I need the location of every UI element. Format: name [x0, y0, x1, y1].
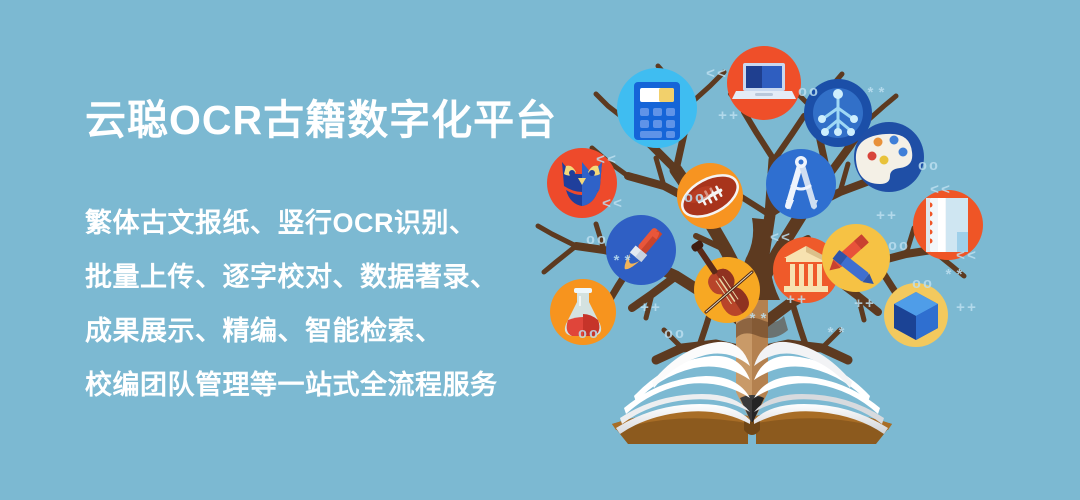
deco-glyph: oo: [912, 276, 934, 293]
deco-glyph: ++: [876, 208, 898, 225]
banner-text-block: 云聪OCR古籍数字化平台 繁体古文报纸、竖行OCR识别、 批量上传、逐字校对、数…: [0, 0, 600, 500]
deco-glyph: **: [866, 86, 888, 103]
deco-glyph: <<: [770, 230, 792, 247]
palette-icon: [854, 122, 924, 192]
deco-glyph: ++: [718, 108, 740, 125]
deco-glyph: **: [748, 312, 770, 329]
crayons-icon: [822, 224, 890, 292]
deco-glyph: **: [826, 326, 848, 343]
deco-glyph: <<: [956, 248, 978, 265]
page-title: 云聪OCR古籍数字化平台: [85, 98, 557, 143]
ocr-platform-banner: << ++ oo ** << oo oo ** << oo << ++ oo <…: [0, 0, 1080, 500]
deco-glyph: ++: [786, 292, 808, 309]
deco-glyph: oo: [888, 238, 910, 255]
description-line: 繁体古文报纸、竖行OCR识别、: [85, 196, 498, 250]
deco-glyph: oo: [798, 84, 820, 101]
deco-glyph: **: [944, 268, 966, 285]
deco-glyph: <<: [930, 182, 952, 199]
deco-glyph: <<: [706, 66, 728, 83]
description-line: 批量上传、逐字校对、数据著录、: [85, 250, 498, 304]
compass-icon: [766, 149, 836, 219]
banner-description: 繁体古文报纸、竖行OCR识别、 批量上传、逐字校对、数据著录、 成果展示、精编、…: [85, 196, 498, 412]
deco-glyph: **: [612, 254, 634, 271]
description-line: 成果展示、精编、智能检索、: [85, 304, 498, 358]
deco-glyph: oo: [664, 326, 686, 343]
deco-glyph: ++: [640, 300, 662, 317]
deco-glyph: ++: [854, 296, 876, 313]
description-line: 校编团队管理等一站式全流程服务: [85, 358, 498, 412]
calculator-icon: [617, 68, 697, 148]
deco-glyph: ++: [956, 300, 978, 317]
paintbrush-icon: [606, 215, 676, 285]
deco-glyph: oo: [918, 158, 940, 175]
deco-glyph: oo: [684, 190, 706, 207]
deco-glyph: <<: [602, 196, 624, 213]
